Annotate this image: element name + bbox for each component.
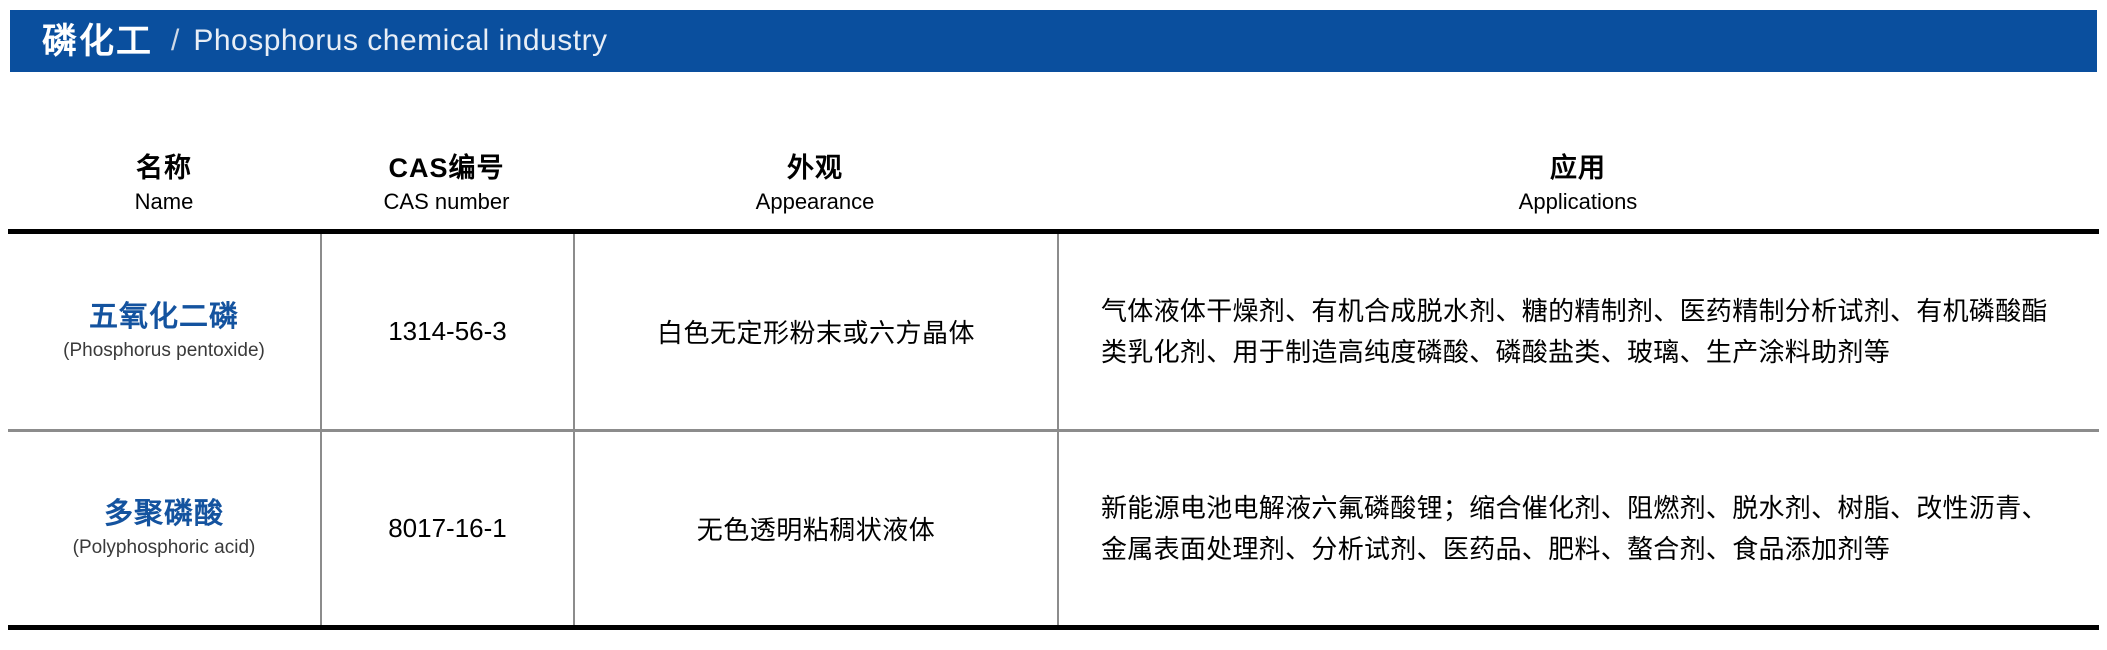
chemical-name-en: (Polyphosphoric acid) bbox=[73, 536, 256, 561]
banner-title-en: Phosphorus chemical industry bbox=[193, 26, 607, 56]
cell-appearance: 无色透明粘稠状液体 bbox=[573, 432, 1057, 625]
appearance-value: 白色无定形粉末或六方晶体 bbox=[657, 313, 975, 350]
column-header-appearance-en: Appearance bbox=[573, 188, 1057, 216]
column-header-appearance-cn: 外观 bbox=[573, 152, 1057, 186]
banner-separator: / bbox=[171, 26, 179, 56]
table-header-row: 名称 Name CAS编号 CAS number 外观 Appearance 应… bbox=[8, 88, 2099, 234]
phosphorus-chemical-industry-table-page: 磷化工 / Phosphorus chemical industry 名称 Na… bbox=[0, 0, 2107, 650]
appearance-value: 无色透明粘稠状液体 bbox=[697, 510, 936, 547]
cell-applications: 新能源电池电解液六氟磷酸锂；缩合催化剂、阻燃剂、脱水剂、树脂、改性沥青、金属表面… bbox=[1057, 432, 2099, 625]
section-banner: 磷化工 / Phosphorus chemical industry bbox=[10, 10, 2097, 72]
chemical-name-cn: 多聚磷酸 bbox=[104, 497, 224, 532]
chemicals-table: 名称 Name CAS编号 CAS number 外观 Appearance 应… bbox=[8, 88, 2099, 630]
column-header-cas-cn: CAS编号 bbox=[320, 152, 573, 186]
banner-title-cn: 磷化工 bbox=[42, 24, 153, 59]
column-header-appearance: 外观 Appearance bbox=[573, 152, 1057, 229]
applications-value: 新能源电池电解液六氟磷酸锂；缩合催化剂、阻燃剂、脱水剂、树脂、改性沥青、金属表面… bbox=[1101, 488, 2065, 569]
column-header-applications-en: Applications bbox=[1057, 188, 2099, 216]
cell-cas-number: 1314-56-3 bbox=[320, 234, 573, 429]
column-header-cas-en: CAS number bbox=[320, 188, 573, 216]
applications-value: 气体液体干燥剂、有机合成脱水剂、糖的精制剂、医药精制分析试剂、有机磷酸酯类乳化剂… bbox=[1101, 291, 2065, 372]
column-header-cas: CAS编号 CAS number bbox=[320, 152, 573, 229]
cell-cas-number: 8017-16-1 bbox=[320, 432, 573, 625]
table-row: 五氧化二磷 (Phosphorus pentoxide) 1314-56-3 白… bbox=[8, 234, 2099, 432]
cell-name: 多聚磷酸 (Polyphosphoric acid) bbox=[8, 432, 320, 625]
cas-number-value: 1314-56-3 bbox=[388, 316, 507, 347]
cell-applications: 气体液体干燥剂、有机合成脱水剂、糖的精制剂、医药精制分析试剂、有机磷酸酯类乳化剂… bbox=[1057, 234, 2099, 429]
chemical-name-en: (Phosphorus pentoxide) bbox=[63, 339, 265, 364]
column-header-name: 名称 Name bbox=[8, 152, 320, 229]
cell-appearance: 白色无定形粉末或六方晶体 bbox=[573, 234, 1057, 429]
column-header-name-cn: 名称 bbox=[8, 152, 320, 186]
cas-number-value: 8017-16-1 bbox=[388, 513, 507, 544]
column-header-applications-cn: 应用 bbox=[1057, 152, 2099, 186]
chemical-name-cn: 五氧化二磷 bbox=[89, 300, 239, 335]
table-row: 多聚磷酸 (Polyphosphoric acid) 8017-16-1 无色透… bbox=[8, 432, 2099, 630]
column-header-name-en: Name bbox=[8, 188, 320, 216]
cell-name: 五氧化二磷 (Phosphorus pentoxide) bbox=[8, 234, 320, 429]
column-header-applications: 应用 Applications bbox=[1057, 152, 2099, 229]
